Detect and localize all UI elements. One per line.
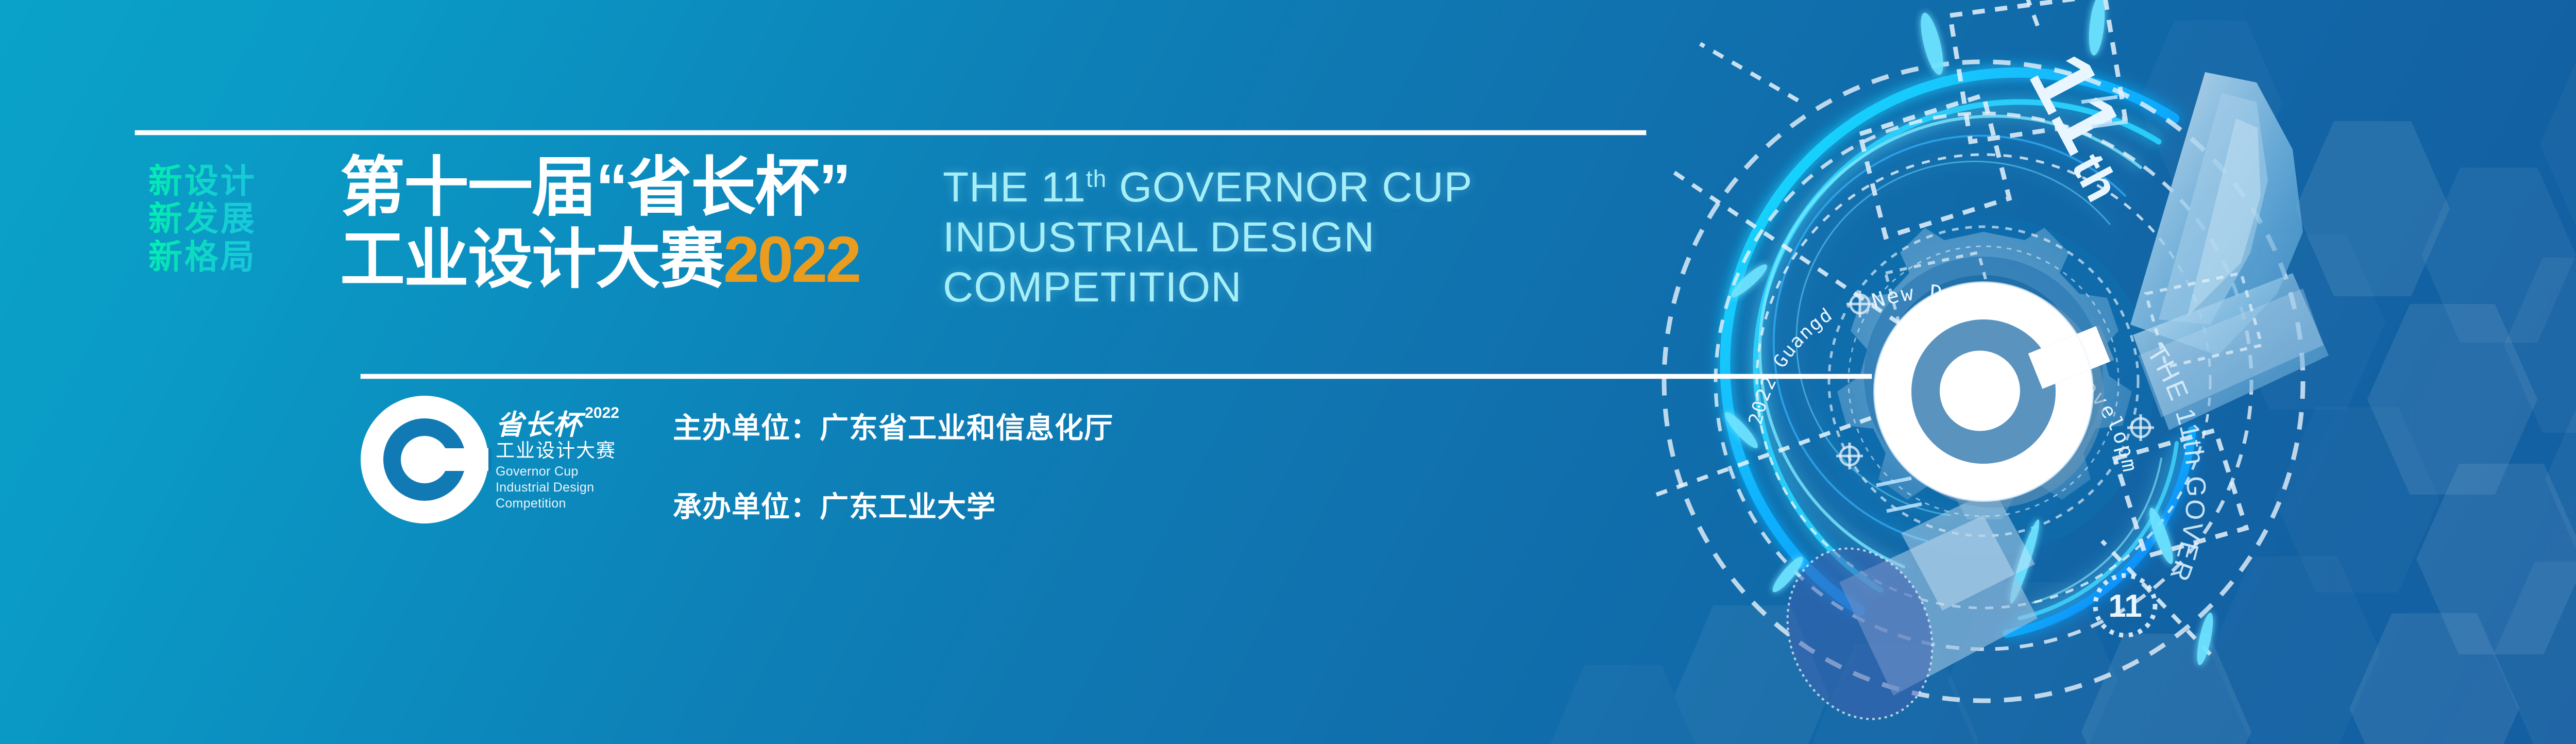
title-english-line-1-prefix: THE 11 — [943, 164, 1086, 211]
divider-line-bottom — [361, 374, 1872, 379]
logo-english-line-3: Competition — [496, 496, 616, 512]
slogan-line-3: 新格局 — [148, 240, 257, 274]
graphic-edition-number: 11 — [2011, 38, 2142, 170]
governor-cup-g-logo-icon — [361, 396, 488, 523]
title-english-line-3: COMPETITION — [943, 263, 1472, 313]
page-title-chinese: 第十一届“省长杯” 工业设计大赛2022 — [340, 153, 859, 295]
title-chinese-line-1: 第十一届“省长杯” — [340, 153, 859, 223]
event-banner: 11 11 th New Design New Development 2022… — [0, 0, 2576, 744]
logo-english-line-2: Industrial Design — [496, 480, 616, 496]
title-chinese-line-2: 工业设计大赛2022 — [340, 225, 859, 295]
page-title-english: THE 11th GOVERNOR CUP INDUSTRIAL DESIGN … — [943, 163, 1472, 312]
title-english-line-2: INDUSTRIAL DESIGN — [943, 213, 1472, 263]
title-chinese-line-2-text: 工业设计大赛 — [340, 223, 723, 296]
slogan-line-1: 新设计 — [148, 164, 257, 198]
logo-english-block: Governor Cup Industrial Design Competiti… — [496, 464, 616, 512]
title-english-line-1-suffix: GOVERNOR CUP — [1107, 164, 1472, 211]
svg-text:2022 Guangdong: 2022 Guangdong — [1565, 0, 1837, 427]
footer-band: 2022 省长杯 工业设计大赛 Governor Cup Industrial … — [361, 396, 1113, 526]
tech-graphic-illustration: 11 11 th New Design New Development 2022… — [1571, 0, 2344, 744]
event-logo-lockup: 2022 省长杯 工业设计大赛 Governor Cup Industrial … — [361, 396, 616, 523]
logo-crossbar — [425, 448, 488, 471]
slogan-line-2: 新发展 — [148, 201, 257, 236]
divider-line-top — [135, 130, 1646, 135]
title-english-line-1: THE 11th GOVERNOR CUP — [943, 163, 1472, 213]
logo-text-block: 2022 省长杯 工业设计大赛 Governor Cup Industrial … — [496, 408, 616, 512]
organizer-info-block: 主办单位：广东省工业和信息化厅 承办单位：广东工业大学 — [673, 396, 1113, 526]
logo-english-line-1: Governor Cup — [496, 464, 616, 480]
title-year: 2022 — [723, 223, 859, 296]
slogan-block: 新设计 新发展 新格局 — [148, 164, 257, 274]
organizer-host: 主办单位：广东省工业和信息化厅 — [673, 405, 1113, 447]
title-english-ordinal-suffix: th — [1086, 165, 1107, 192]
logo-year: 2022 — [585, 404, 619, 422]
organizer-co-host: 承办单位：广东工业大学 — [673, 484, 1113, 526]
graphic-label-year-region: 2022 Guangdong — [1565, 0, 1837, 427]
logo-subtitle-chinese: 工业设计大赛 — [496, 441, 616, 462]
graphic-dial-number: 11 — [2108, 588, 2142, 624]
